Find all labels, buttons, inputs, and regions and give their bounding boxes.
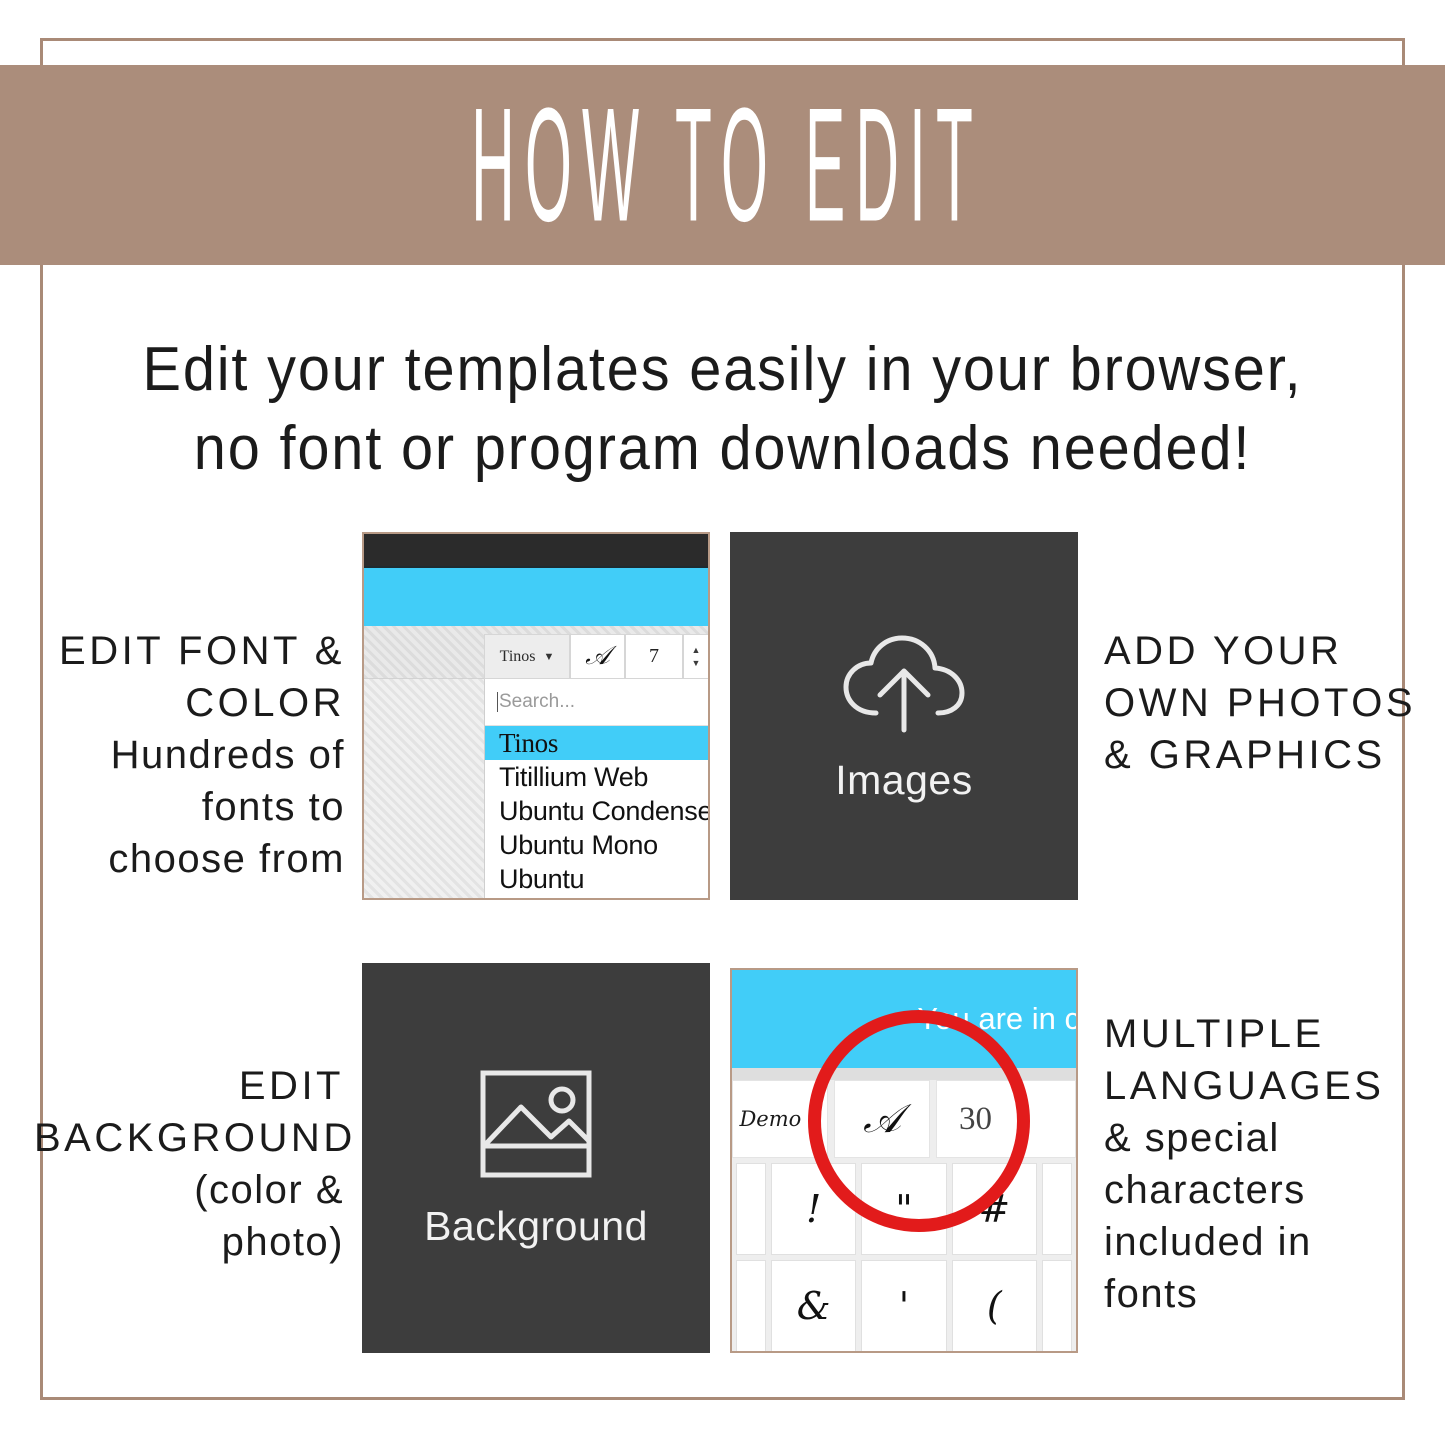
caption-line: & GRAPHICS [1104,729,1445,781]
font-editor-screenshot: Tinos ▼ 𝒜 7 ▲ ▼ Search... Tinos Titilliu… [362,532,710,900]
character-cell[interactable]: ' [861,1260,946,1352]
font-list-dropdown[interactable]: Search... Tinos Titillium Web Ubuntu Con… [484,679,710,900]
character-cell[interactable]: & [771,1260,856,1352]
background-label: Background [424,1203,648,1250]
caption-line: (color & [34,1164,344,1216]
charmap-font-label: Demo [739,1107,801,1131]
caption-add-photos: ADD YOUR OWN PHOTOS & GRAPHICS [1104,625,1445,781]
font-list-item[interactable]: Ubuntu Mono [485,828,710,862]
character-cell[interactable] [1042,1260,1072,1352]
picture-icon [477,1067,595,1181]
subtitle-line-1: Edit your templates easily in your brows… [51,330,1395,409]
caption-line: ADD YOUR [1104,625,1445,677]
caption-line: choose from [40,833,345,885]
spinner-up-icon[interactable]: ▲ [692,646,701,655]
caption-multiple-languages: MULTIPLE LANGUAGES & special characters … [1104,1008,1434,1320]
caption-line: & special [1104,1112,1434,1164]
character-map-screenshot: You are in c Demo ▼ 𝒜 30 ! " # & ' ( [730,968,1078,1353]
font-search-input[interactable]: Search... [485,679,710,726]
script-a-icon: 𝒜 [585,641,610,672]
color-swatch-black[interactable] [709,634,710,679]
caption-line: BACKGROUND [34,1112,344,1164]
red-highlight-circle [808,1010,1030,1232]
caption-edit-background: EDIT BACKGROUND (color & photo) [34,1060,344,1268]
images-label: Images [835,757,972,804]
font-size-value: 7 [649,645,659,668]
font-search-placeholder: Search... [499,691,575,713]
font-list-item[interactable]: Tinos [485,726,710,760]
cloud-upload-icon [838,629,970,735]
caption-line: COLOR [40,677,345,729]
images-panel-screenshot: Images [730,532,1078,900]
app-titlebar [364,534,708,568]
caption-line: characters [1104,1164,1434,1216]
character-cell[interactable] [736,1163,766,1255]
font-list-item[interactable]: Ubuntu Condensed [485,794,710,828]
caption-edit-font: EDIT FONT & COLOR Hundreds of fonts to c… [40,625,345,885]
character-cell[interactable] [736,1260,766,1352]
character-cell[interactable]: ( [952,1260,1037,1352]
caption-line: MULTIPLE [1104,1008,1434,1060]
font-size-input[interactable]: 7 [625,634,683,679]
page-title: HOW TO EDIT [462,84,984,246]
header-banner: HOW TO EDIT [0,65,1445,265]
text-cursor-icon [497,692,498,712]
canvas-cyan-band [364,568,708,626]
font-name-dropdown[interactable]: Tinos ▼ [484,634,570,679]
font-list-item[interactable]: Titillium Web [485,760,710,794]
character-cell[interactable] [1042,1163,1072,1255]
background-panel-screenshot: Background [362,963,710,1353]
font-toolbar: Tinos ▼ 𝒜 7 ▲ ▼ [484,634,710,679]
spinner-down-icon[interactable]: ▼ [692,659,701,668]
caption-line: LANGUAGES [1104,1060,1434,1112]
subtitle-text: Edit your templates easily in your brows… [51,330,1395,489]
caption-line: Hundreds of [40,729,345,781]
caption-line: photo) [34,1216,344,1268]
caption-line: OWN PHOTOS [1104,677,1445,729]
caption-line: EDIT [34,1060,344,1112]
script-glyph-button[interactable]: 𝒜 [570,634,625,679]
caption-line: fonts [1104,1268,1434,1320]
font-name-label: Tinos [500,648,536,666]
font-size-stepper[interactable]: ▲ ▼ [683,634,709,679]
caption-line: included in [1104,1216,1434,1268]
caption-line: EDIT FONT & [40,625,345,677]
font-list-item[interactable]: Ubuntu [485,862,710,896]
chevron-down-icon: ▼ [544,651,555,663]
caption-line: fonts to [40,781,345,833]
subtitle-line-2: no font or program downloads needed! [51,409,1395,488]
